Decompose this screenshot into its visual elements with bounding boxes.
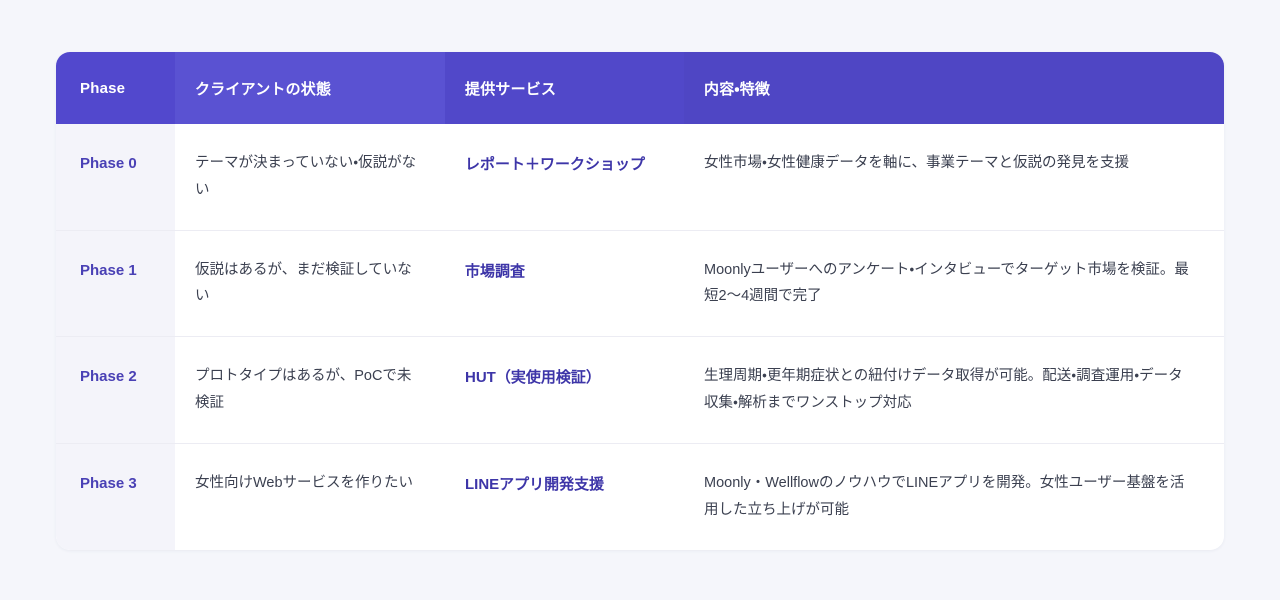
column-header-state: クライアントの状態 (175, 52, 445, 124)
table-row: Phase 2 プロトタイプはあるが、PoCで未検証 HUT（実使用検証） 生理… (56, 337, 1224, 444)
cell-detail: Moonly・WellflowのノウハウでLINEアプリを開発。女性ユーザー基盤… (684, 443, 1224, 549)
table-row: Phase 0 テーマが決まっていない・仮説がない レポート＋ワークショップ 女… (56, 124, 1224, 230)
cell-phase: Phase 3 (56, 443, 175, 549)
cell-service: HUT（実使用検証） (445, 337, 684, 444)
column-header-phase: Phase (56, 52, 175, 124)
page-root: Phase クライアントの状態 提供サービス 内容・特徴 Phase 0 テーマ… (0, 0, 1280, 600)
cell-detail: 女性市場・女性健康データを軸に、事業テーマと仮説の発見を支援 (684, 124, 1224, 230)
phase-service-table: Phase クライアントの状態 提供サービス 内容・特徴 Phase 0 テーマ… (56, 52, 1224, 550)
phase-service-table-card: Phase クライアントの状態 提供サービス 内容・特徴 Phase 0 テーマ… (56, 52, 1224, 550)
cell-service: レポート＋ワークショップ (445, 124, 684, 230)
table-row: Phase 3 女性向けWebサービスを作りたい LINEアプリ開発支援 Moo… (56, 443, 1224, 549)
cell-state: 仮説はあるが、まだ検証していない (175, 230, 445, 337)
cell-service: LINEアプリ開発支援 (445, 443, 684, 549)
cell-phase: Phase 1 (56, 230, 175, 337)
table-header-row: Phase クライアントの状態 提供サービス 内容・特徴 (56, 52, 1224, 124)
cell-state: プロトタイプはあるが、PoCで未検証 (175, 337, 445, 444)
cell-detail: Moonlyユーザーへのアンケート・インタビューでターゲット市場を検証。最短2〜… (684, 230, 1224, 337)
cell-service: 市場調査 (445, 230, 684, 337)
cell-state: 女性向けWebサービスを作りたい (175, 443, 445, 549)
table-row: Phase 1 仮説はあるが、まだ検証していない 市場調査 Moonlyユーザー… (56, 230, 1224, 337)
cell-phase: Phase 2 (56, 337, 175, 444)
cell-state: テーマが決まっていない・仮説がない (175, 124, 445, 230)
cell-detail: 生理周期・更年期症状との紐付けデータ取得が可能。配送・調査運用・データ収集・解析… (684, 337, 1224, 444)
cell-phase: Phase 0 (56, 124, 175, 230)
column-header-detail: 内容・特徴 (684, 52, 1224, 124)
table-header: Phase クライアントの状態 提供サービス 内容・特徴 (56, 52, 1224, 124)
column-header-service: 提供サービス (445, 52, 684, 124)
table-body: Phase 0 テーマが決まっていない・仮説がない レポート＋ワークショップ 女… (56, 124, 1224, 550)
